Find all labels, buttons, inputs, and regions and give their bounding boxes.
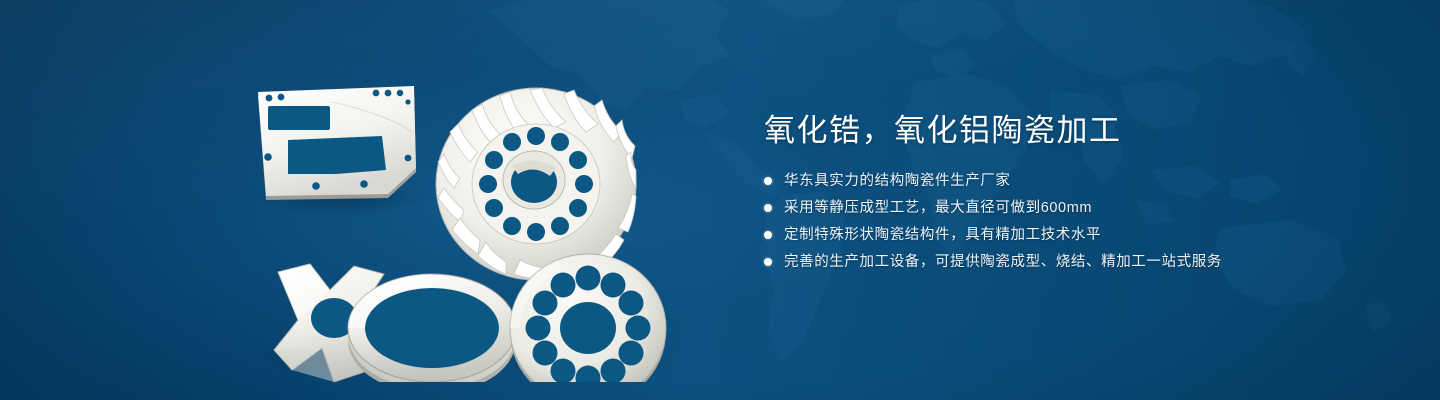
list-item: 华东具实力的结构陶瓷件生产厂家 (764, 170, 1364, 192)
bullet-dot-icon (764, 204, 772, 212)
page-title: 氧化锆，氧化铝陶瓷加工 (764, 112, 1364, 150)
banner-copy: 氧化锆，氧化铝陶瓷加工 华东具实力的结构陶瓷件生产厂家 采用等静压成型工艺，最大… (764, 112, 1364, 278)
list-item: 定制特殊形状陶瓷结构件，具有精加工技术水平 (764, 224, 1364, 246)
list-item-label: 华东具实力的结构陶瓷件生产厂家 (784, 170, 1011, 192)
list-item: 完善的生产加工设备，可提供陶瓷成型、烧结、精加工一站式服务 (764, 251, 1364, 273)
bullet-dot-icon (764, 258, 772, 266)
bullet-dot-icon (764, 231, 772, 239)
bullet-dot-icon (764, 177, 772, 185)
list-item: 采用等静压成型工艺，最大直径可做到600mm (764, 197, 1364, 219)
feature-list: 华东具实力的结构陶瓷件生产厂家 采用等静压成型工艺，最大直径可做到600mm 定… (764, 170, 1364, 273)
list-item-label: 完善的生产加工设备，可提供陶瓷成型、烧结、精加工一站式服务 (784, 251, 1222, 273)
promo-banner: 氧化锆，氧化铝陶瓷加工 华东具实力的结构陶瓷件生产厂家 采用等静压成型工艺，最大… (0, 0, 1440, 400)
list-item-label: 采用等静压成型工艺，最大直径可做到600mm (784, 197, 1092, 219)
list-item-label: 定制特殊形状陶瓷结构件，具有精加工技术水平 (784, 224, 1101, 246)
